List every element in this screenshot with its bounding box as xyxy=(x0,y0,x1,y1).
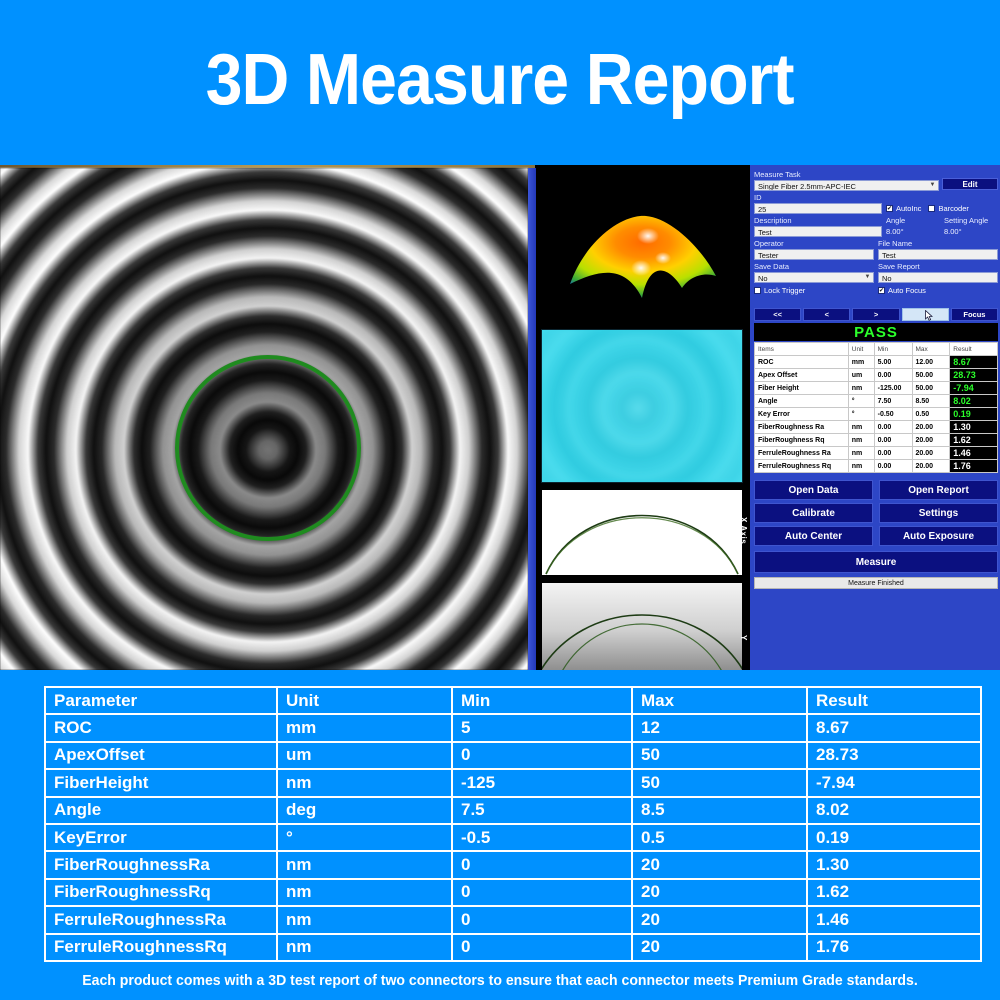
measurement-software-panel: Measure Task Single Fiber 2.5mm-APC-IEC … xyxy=(750,165,1000,670)
header-result: Result xyxy=(807,687,981,714)
app-cell-item: ROC xyxy=(755,356,849,369)
table-row: FiberRoughnessRqnm0201.62 xyxy=(45,879,981,906)
app-col-min: Min xyxy=(874,343,912,356)
cell-result: 1.62 xyxy=(807,879,981,906)
setting-angle-label: Setting Angle xyxy=(944,216,998,226)
app-cell-unit: um xyxy=(848,369,874,382)
app-cell-max: 20.00 xyxy=(912,460,950,473)
app-result-row[interactable]: Angle°7.508.508.02 xyxy=(755,395,998,408)
cell-result: 8.02 xyxy=(807,797,981,824)
app-cell-item: Key Error xyxy=(755,408,849,421)
x-axis-profile-shaded[interactable] xyxy=(542,583,742,670)
app-cell-result: 1.46 xyxy=(950,447,998,460)
id-value: 25 xyxy=(758,205,766,214)
cell-result: 8.67 xyxy=(807,714,981,741)
app-cell-min: -0.50 xyxy=(874,408,912,421)
cell-parameter: FiberHeight xyxy=(45,769,277,796)
app-cell-result: 28.73 xyxy=(950,369,998,382)
app-cell-min: 0.00 xyxy=(874,434,912,447)
save-data-value: No xyxy=(758,274,768,283)
cell-min: 0 xyxy=(452,851,632,878)
chevron-down-icon: ▼ xyxy=(928,181,937,190)
app-cell-item: Fiber Height xyxy=(755,382,849,395)
app-cell-unit: mm xyxy=(848,356,874,369)
green-fiber-boundary-circle xyxy=(175,355,361,541)
mouse-cursor-icon xyxy=(925,310,933,321)
app-cell-result: 8.67 xyxy=(950,356,998,369)
app-panel-filler xyxy=(750,591,1000,670)
app-col-result: Result xyxy=(950,343,998,356)
table-row: Angledeg7.58.58.02 xyxy=(45,797,981,824)
height-map-edge-shading xyxy=(542,330,742,482)
app-result-row[interactable]: FiberRoughness Rqnm0.0020.001.62 xyxy=(755,434,998,447)
app-results-header-row: Items Unit Min Max Result xyxy=(755,343,998,356)
app-cell-max: 0.50 xyxy=(912,408,950,421)
visual-column: X Axis Y xyxy=(536,165,750,670)
autoinc-checkbox-row[interactable]: ✔ AutoInc Barcoder xyxy=(886,204,998,213)
report-header-row: Parameter Unit Min Max Result xyxy=(45,687,981,714)
table-row: FiberRoughnessRanm0201.30 xyxy=(45,851,981,878)
title-banner: 3D Measure Report xyxy=(0,0,1000,165)
autoinc-label: AutoInc xyxy=(896,204,921,213)
app-cell-unit: nm xyxy=(848,447,874,460)
app-cell-result: 1.30 xyxy=(950,421,998,434)
cell-min: 0 xyxy=(452,742,632,769)
lock-trigger-label: Lock Trigger xyxy=(764,286,805,295)
app-cell-min: 7.50 xyxy=(874,395,912,408)
cell-max: 20 xyxy=(632,851,807,878)
navigation-bar: << < > Focus xyxy=(754,308,998,321)
app-result-row[interactable]: Apex Offsetum0.0050.0028.73 xyxy=(755,369,998,382)
header-max: Max xyxy=(632,687,807,714)
operator-value: Tester xyxy=(758,251,778,260)
auto-focus-row[interactable]: ✔ Auto Focus xyxy=(878,286,998,295)
table-row: ApexOffsetum05028.73 xyxy=(45,742,981,769)
app-cell-max: 50.00 xyxy=(912,382,950,395)
cell-min: -125 xyxy=(452,769,632,796)
report-table-body: ROCmm5128.67ApexOffsetum05028.73FiberHei… xyxy=(45,714,981,961)
panel-divider xyxy=(528,168,536,670)
first-button[interactable]: << xyxy=(754,308,801,321)
file-name-label: File Name xyxy=(878,239,998,249)
cell-min: -0.5 xyxy=(452,824,632,851)
app-cell-item: FiberRoughness Ra xyxy=(755,421,849,434)
table-row: FerruleRoughnessRanm0201.46 xyxy=(45,906,981,933)
cell-unit: nm xyxy=(277,851,452,878)
cell-result: -7.94 xyxy=(807,769,981,796)
app-cell-result: 1.76 xyxy=(950,460,998,473)
cell-unit: nm xyxy=(277,879,452,906)
setting-angle-value: 8.00° xyxy=(944,226,998,237)
app-result-row[interactable]: Fiber Heightnm-125.0050.00-7.94 xyxy=(755,382,998,395)
open-data-button[interactable]: Open Data xyxy=(754,480,873,500)
edit-button[interactable]: Edit xyxy=(942,178,998,190)
autoinc-checkbox[interactable]: ✔ xyxy=(886,205,893,212)
table-row: ROCmm5128.67 xyxy=(45,714,981,741)
app-result-row[interactable]: FerruleRoughness Ranm0.0020.001.46 xyxy=(755,447,998,460)
cell-parameter: FiberRoughnessRq xyxy=(45,879,277,906)
page-title: 3D Measure Report xyxy=(206,44,794,122)
cell-min: 0 xyxy=(452,906,632,933)
cell-unit: deg xyxy=(277,797,452,824)
next-button[interactable]: > xyxy=(852,308,899,321)
table-row: FiberHeightnm-12550-7.94 xyxy=(45,769,981,796)
app-cell-result: 1.62 xyxy=(950,434,998,447)
cell-min: 5 xyxy=(452,714,632,741)
app-cell-item: FerruleRoughness Rq xyxy=(755,460,849,473)
app-cell-unit: nm xyxy=(848,421,874,434)
profile-curve xyxy=(542,490,742,575)
cell-result: 0.19 xyxy=(807,824,981,851)
operator-label: Operator xyxy=(754,239,874,249)
auto-exposure-button[interactable]: Auto Exposure xyxy=(879,526,998,546)
live-view-button[interactable] xyxy=(902,308,949,321)
angle-label: Angle xyxy=(886,216,940,226)
profile-curve-shaded xyxy=(542,583,742,670)
save-report-select[interactable]: No xyxy=(878,272,998,283)
auto-center-button[interactable]: Auto Center xyxy=(754,526,873,546)
save-report-label: Save Report xyxy=(878,262,998,272)
status-badge: PASS xyxy=(754,323,998,341)
app-cell-max: 20.00 xyxy=(912,447,950,460)
action-buttons: Open Data Open Report Calibrate Settings… xyxy=(754,480,998,546)
cell-min: 0 xyxy=(452,879,632,906)
app-cell-item: FerruleRoughness Ra xyxy=(755,447,849,460)
cell-parameter: FerruleRoughnessRq xyxy=(45,934,277,961)
app-cell-min: -125.00 xyxy=(874,382,912,395)
settings-button[interactable]: Settings xyxy=(879,503,998,523)
cell-unit: mm xyxy=(277,714,452,741)
cell-parameter: KeyError xyxy=(45,824,277,851)
cell-parameter: FerruleRoughnessRa xyxy=(45,906,277,933)
cell-unit: nm xyxy=(277,906,452,933)
file-name-value: Test xyxy=(882,251,896,260)
cell-result: 1.46 xyxy=(807,906,981,933)
app-cell-item: FiberRoughness Rq xyxy=(755,434,849,447)
3d-surface-plot[interactable] xyxy=(538,168,748,323)
calibrate-button[interactable]: Calibrate xyxy=(754,503,873,523)
cell-result: 1.76 xyxy=(807,934,981,961)
status-text: Measure Finished xyxy=(754,577,998,589)
cell-max: 0.5 xyxy=(632,824,807,851)
measure-task-value: Single Fiber 2.5mm-APC-IEC xyxy=(758,182,856,191)
lock-trigger-checkbox[interactable] xyxy=(754,287,761,294)
app-cell-unit: nm xyxy=(848,382,874,395)
app-result-row[interactable]: ROCmm5.0012.008.67 xyxy=(755,356,998,369)
app-cell-unit: ° xyxy=(848,395,874,408)
cell-unit: nm xyxy=(277,769,452,796)
cell-result: 28.73 xyxy=(807,742,981,769)
chevron-down-icon: ▼ xyxy=(863,273,872,282)
2d-height-map[interactable] xyxy=(542,330,742,482)
app-cell-min: 0.00 xyxy=(874,460,912,473)
app-cell-min: 0.00 xyxy=(874,447,912,460)
app-result-row[interactable]: Key Error°-0.500.500.19 xyxy=(755,408,998,421)
barcoder-checkbox[interactable] xyxy=(928,205,935,212)
cell-max: 50 xyxy=(632,769,807,796)
cell-max: 20 xyxy=(632,934,807,961)
prev-button[interactable]: < xyxy=(803,308,850,321)
cell-min: 0 xyxy=(452,934,632,961)
app-cell-max: 50.00 xyxy=(912,369,950,382)
app-cell-result: -7.94 xyxy=(950,382,998,395)
save-data-label: Save Data xyxy=(754,262,874,272)
app-results-table: Items Unit Min Max Result ROCmm5.0012.00… xyxy=(754,342,998,473)
cell-min: 7.5 xyxy=(452,797,632,824)
cell-unit: nm xyxy=(277,934,452,961)
app-cell-min: 0.00 xyxy=(874,369,912,382)
cell-parameter: ApexOffset xyxy=(45,742,277,769)
app-cell-unit: nm xyxy=(848,434,874,447)
cell-result: 1.30 xyxy=(807,851,981,878)
measure-button[interactable]: Measure xyxy=(754,551,998,573)
angle-value: 8.00° xyxy=(886,226,940,237)
description-label: Description xyxy=(754,216,882,226)
app-result-row[interactable]: FiberRoughness Ranm0.0020.001.30 xyxy=(755,421,998,434)
auto-focus-label: Auto Focus xyxy=(888,286,926,295)
3d-dome-surface xyxy=(564,206,724,311)
cell-unit: um xyxy=(277,742,452,769)
app-cell-result: 8.02 xyxy=(950,395,998,408)
cell-parameter: Angle xyxy=(45,797,277,824)
app-cell-max: 20.00 xyxy=(912,434,950,447)
cell-unit: ° xyxy=(277,824,452,851)
id-input[interactable]: 25 xyxy=(754,203,882,214)
app-cell-max: 8.50 xyxy=(912,395,950,408)
auto-focus-checkbox[interactable]: ✔ xyxy=(878,287,885,294)
cell-max: 50 xyxy=(632,742,807,769)
app-col-max: Max xyxy=(912,343,950,356)
save-data-select[interactable]: No ▼ xyxy=(754,272,874,283)
x-axis-profile-plot[interactable] xyxy=(542,490,742,575)
app-cell-item: Apex Offset xyxy=(755,369,849,382)
header-unit: Unit xyxy=(277,687,452,714)
barcoder-label: Barcoder xyxy=(938,204,968,213)
app-cell-unit: ° xyxy=(848,408,874,421)
app-cell-result: 0.19 xyxy=(950,408,998,421)
report-page: 3D Measure Report xyxy=(0,0,1000,1000)
cell-parameter: FiberRoughnessRa xyxy=(45,851,277,878)
software-screenshot: X Axis Y Measure Task Single Fiber 2.5mm… xyxy=(0,165,1000,670)
description-value: Test xyxy=(758,228,772,237)
x-axis-label: X Axis xyxy=(739,517,748,544)
header-min: Min xyxy=(452,687,632,714)
app-cell-min: 0.00 xyxy=(874,421,912,434)
app-cell-max: 20.00 xyxy=(912,421,950,434)
app-cell-min: 5.00 xyxy=(874,356,912,369)
app-col-items: Items xyxy=(755,343,849,356)
save-report-value: No xyxy=(882,274,892,283)
app-results-body: ROCmm5.0012.008.67Apex Offsetum0.0050.00… xyxy=(755,356,998,473)
cell-max: 20 xyxy=(632,906,807,933)
app-result-row[interactable]: FerruleRoughness Rqnm0.0020.001.76 xyxy=(755,460,998,473)
cell-parameter: ROC xyxy=(45,714,277,741)
y-axis-label: Y xyxy=(739,635,748,640)
footer-note: Each product comes with a 3D test report… xyxy=(15,962,985,1000)
app-cell-unit: nm xyxy=(848,460,874,473)
app-cell-max: 12.00 xyxy=(912,356,950,369)
app-cell-item: Angle xyxy=(755,395,849,408)
operator-input[interactable]: Tester xyxy=(754,249,874,260)
id-label: ID xyxy=(754,193,998,203)
cell-max: 20 xyxy=(632,879,807,906)
description-input[interactable]: Test xyxy=(754,226,882,237)
cell-max: 8.5 xyxy=(632,797,807,824)
table-row: KeyError°-0.50.50.19 xyxy=(45,824,981,851)
file-name-input[interactable]: Test xyxy=(878,249,998,260)
cell-max: 12 xyxy=(632,714,807,741)
table-row: FerruleRoughnessRqnm0201.76 xyxy=(45,934,981,961)
open-report-button[interactable]: Open Report xyxy=(879,480,998,500)
focus-button[interactable]: Focus xyxy=(951,308,998,321)
lock-trigger-row[interactable]: Lock Trigger xyxy=(754,286,874,295)
header-parameter: Parameter xyxy=(45,687,277,714)
measure-task-select[interactable]: Single Fiber 2.5mm-APC-IEC ▼ xyxy=(754,180,939,191)
report-table: Parameter Unit Min Max Result ROCmm5128.… xyxy=(44,686,982,962)
app-col-unit: Unit xyxy=(848,343,874,356)
